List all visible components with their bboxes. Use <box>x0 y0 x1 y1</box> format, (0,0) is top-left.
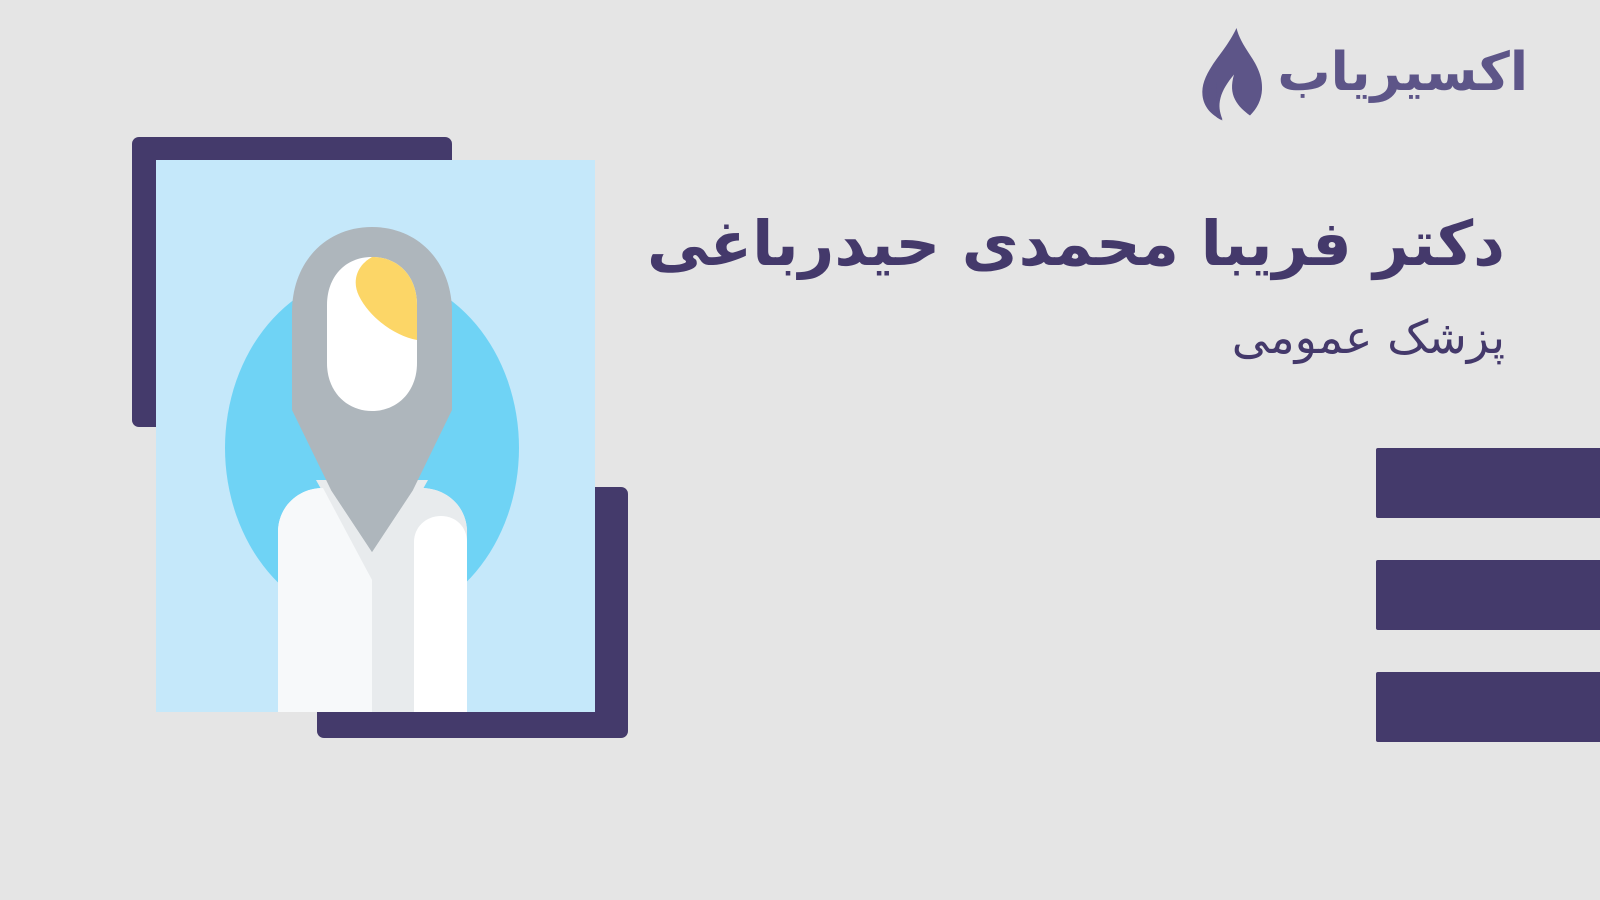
flame-drop-icon <box>1189 26 1263 122</box>
brand-name: اکسیریاب <box>1277 46 1528 103</box>
doctor-name: دکتر فریبا محمدی حیدرباغی <box>565 206 1505 282</box>
doctor-profile-banner: اکسیریاب <box>0 0 1600 900</box>
deco-bar-3 <box>1376 672 1600 742</box>
deco-bar-1 <box>1376 448 1600 518</box>
profile-photo-composition <box>0 0 700 900</box>
decorative-bar-stack <box>1368 448 1600 742</box>
profile-photo-card <box>156 160 595 712</box>
deco-bar-2 <box>1376 560 1600 630</box>
doctor-specialty: پزشک عمومی <box>565 308 1505 368</box>
profile-text-block: دکتر فریبا محمدی حیدرباغی پزشک عمومی <box>565 206 1505 367</box>
female-doctor-avatar-icon <box>156 160 595 712</box>
brand-logo[interactable]: اکسیریاب <box>1189 22 1528 126</box>
